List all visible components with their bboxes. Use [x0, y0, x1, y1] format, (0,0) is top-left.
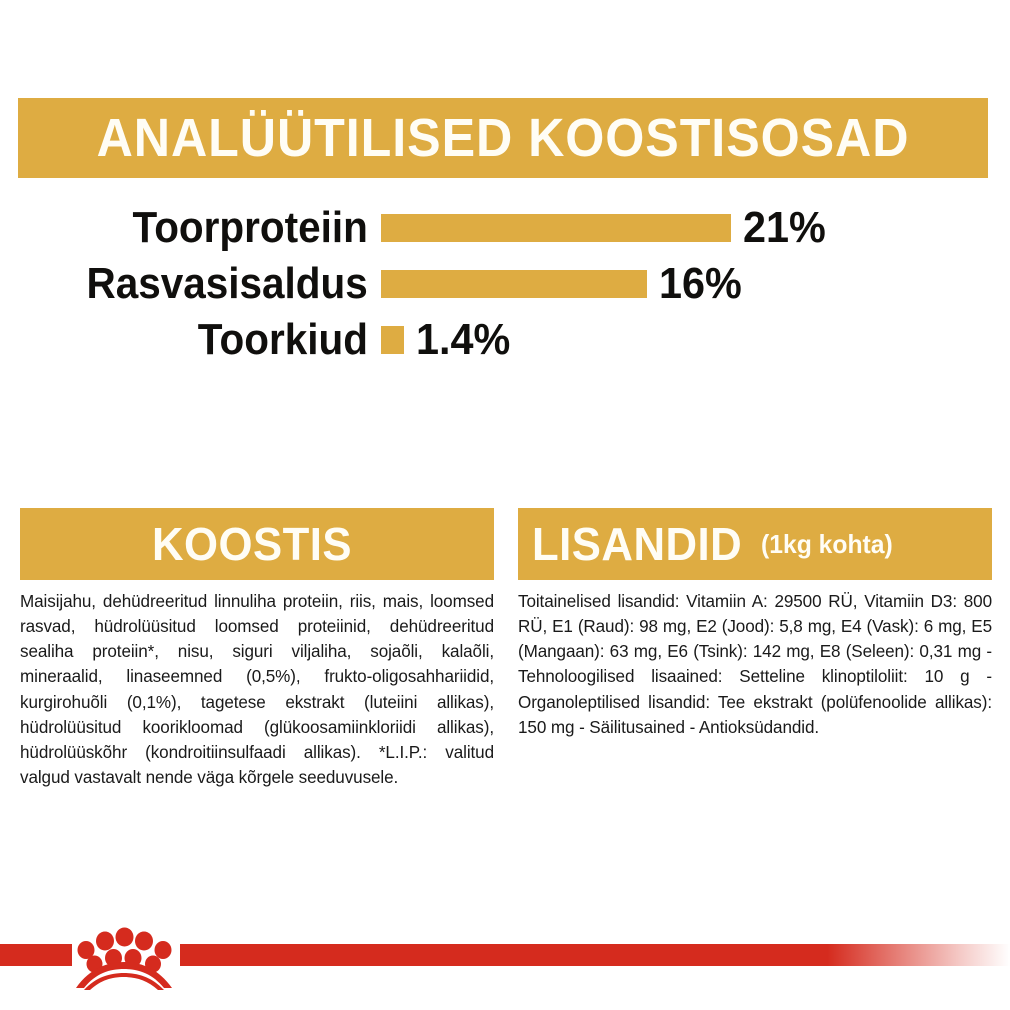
chart-bar	[381, 270, 647, 298]
chart-row-value: 1.4%	[416, 318, 510, 362]
analytical-constituents-chart: Toorproteiin 21% Rasvasisaldus 16% Toork…	[0, 200, 1010, 368]
chart-row: Rasvasisaldus 16%	[0, 256, 1010, 312]
chart-row-label: Rasvasisaldus	[87, 262, 368, 306]
ingredients-body: Maisijahu, dehüdreeritud linnuliha prote…	[20, 589, 494, 790]
footer-rule-right	[180, 944, 1010, 966]
chart-row-label: Toorproteiin	[133, 206, 368, 250]
chart-row: Toorkiud 1.4%	[0, 312, 1010, 368]
additives-banner: LISANDID (1kg kohta)	[518, 508, 992, 580]
additives-subtitle: (1kg kohta)	[761, 531, 893, 557]
footer-strip	[0, 944, 1010, 968]
footer-rule-left	[0, 944, 72, 966]
chart-bar-group: 21%	[381, 206, 831, 250]
royal-canin-crown-icon	[68, 920, 180, 990]
ingredients-title: KOOSTIS	[152, 521, 352, 567]
chart-bar-group: 16%	[381, 262, 747, 306]
chart-row-value: 16%	[659, 262, 742, 306]
page-title: ANALÜÜTILISED KOOSTISOSAD	[97, 111, 910, 165]
ingredients-banner: KOOSTIS	[20, 508, 494, 580]
ingredients-column: KOOSTIS Maisijahu, dehüdreeritud linnuli…	[20, 508, 494, 790]
chart-bar-group: 1.4%	[381, 318, 516, 362]
chart-row: Toorproteiin 21%	[0, 200, 1010, 256]
chart-row-label: Toorkiud	[198, 318, 368, 362]
info-columns: KOOSTIS Maisijahu, dehüdreeritud linnuli…	[0, 508, 1010, 790]
additives-body: Toitainelised lisandid: Vitamiin A: 2950…	[518, 589, 992, 740]
chart-row-value: 21%	[743, 206, 826, 250]
additives-column: LISANDID (1kg kohta) Toitainelised lisan…	[518, 508, 992, 790]
additives-title: LISANDID	[532, 521, 742, 567]
analytical-constituents-banner: ANALÜÜTILISED KOOSTISOSAD	[18, 98, 988, 178]
chart-bar	[381, 214, 731, 242]
chart-bar	[381, 326, 404, 354]
